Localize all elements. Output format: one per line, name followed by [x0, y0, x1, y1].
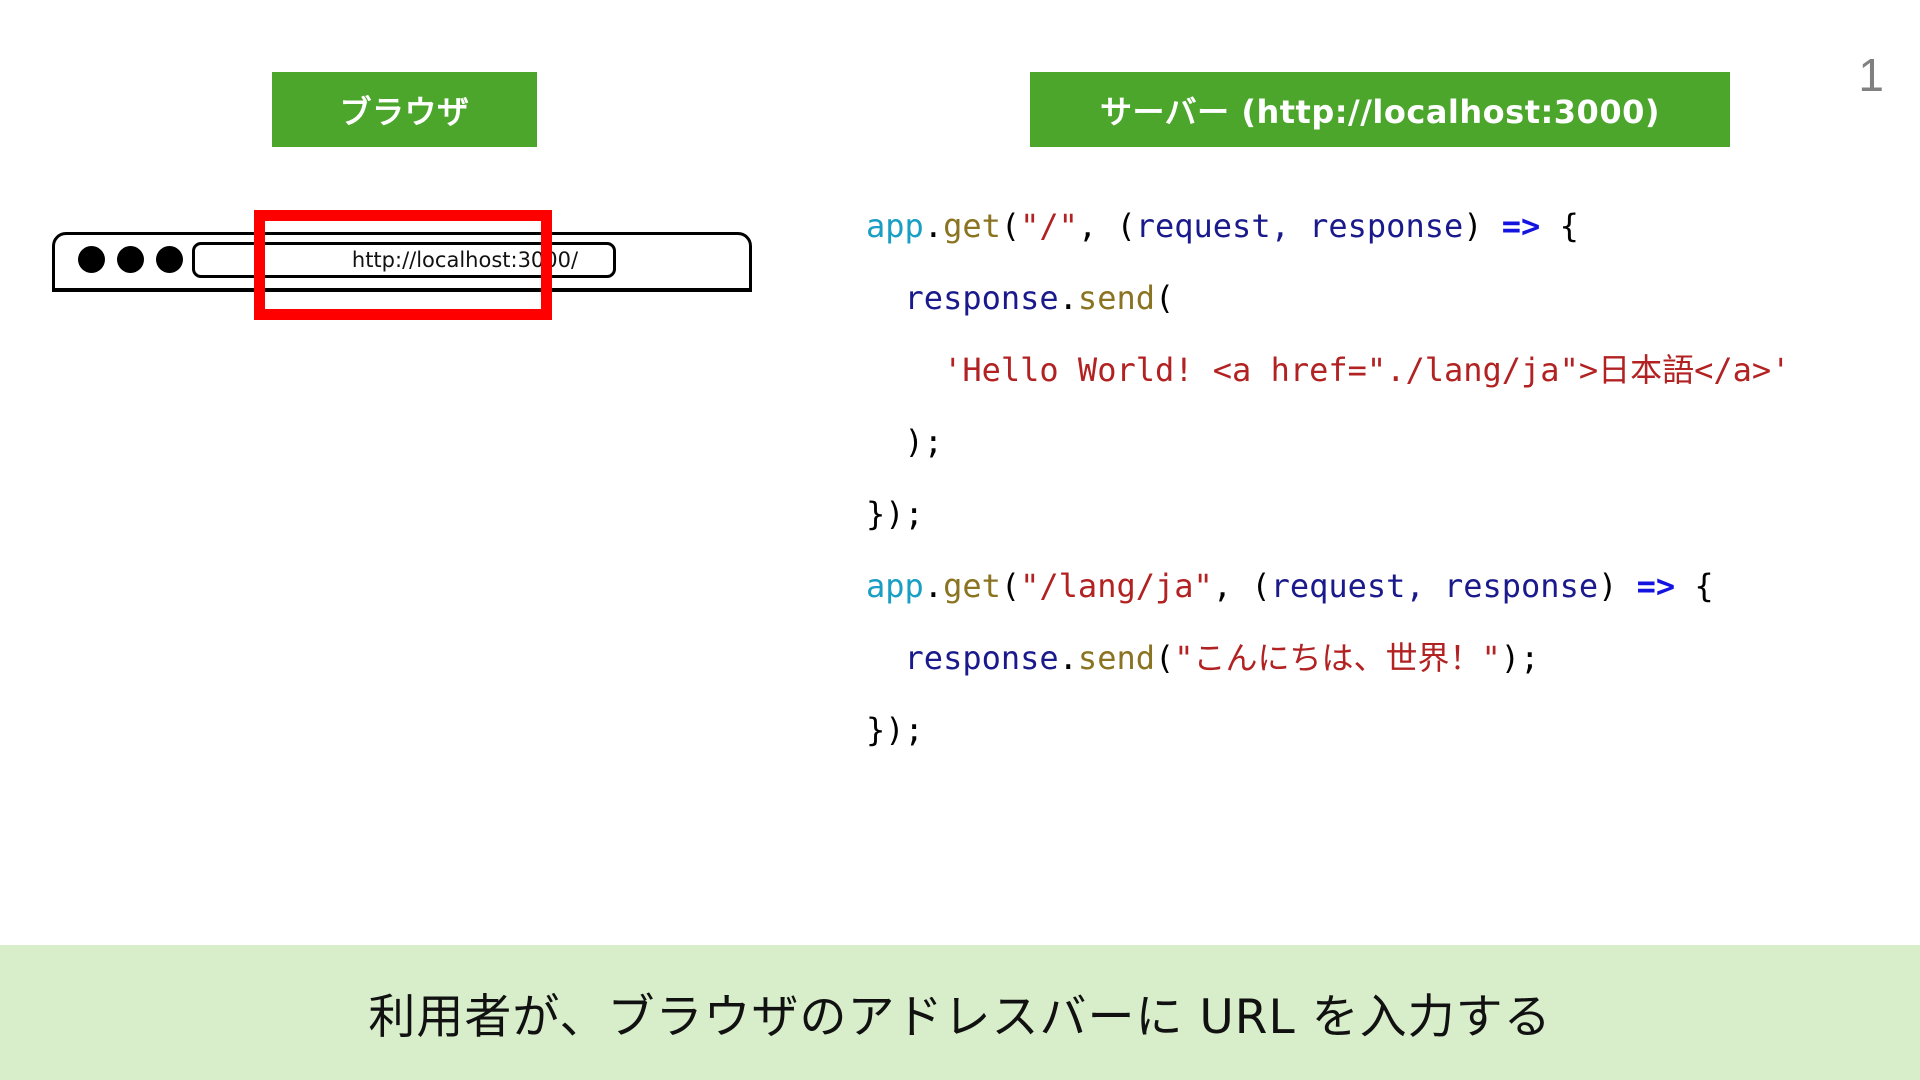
code-token: , (	[1213, 567, 1271, 605]
code-line: response.send("こんにちは、世界！");	[866, 622, 1886, 694]
address-bar[interactable]: http://localhost:3000/	[192, 242, 616, 278]
window-dot-icon[interactable]	[117, 246, 144, 273]
code-line: response.send(	[866, 262, 1886, 334]
code-token: )	[1463, 207, 1502, 245]
page-number: 1	[1858, 52, 1884, 98]
code-token: request, response	[1271, 567, 1599, 605]
code-token: response	[905, 279, 1059, 317]
code-token: );	[866, 423, 943, 461]
code-token: (	[1001, 207, 1020, 245]
code-token: app	[866, 207, 924, 245]
code-token: =>	[1502, 207, 1541, 245]
code-token: send	[1078, 279, 1155, 317]
code-token	[866, 351, 943, 389]
caption-banner: 利用者が、ブラウザのアドレスバーに URL を入力する	[0, 945, 1920, 1080]
code-token: .	[1059, 279, 1078, 317]
browser-column-header: ブラウザ	[272, 72, 537, 147]
code-token: (	[1155, 279, 1174, 317]
code-token: {	[1540, 207, 1579, 245]
code-line: app.get("/", (request, response) => {	[866, 190, 1886, 262]
code-token: });	[866, 495, 924, 533]
code-token: get	[943, 207, 1001, 245]
code-token: , (	[1078, 207, 1136, 245]
browser-traffic-lights	[78, 246, 183, 273]
code-token: );	[1501, 639, 1540, 677]
code-token: });	[866, 711, 924, 749]
code-token: {	[1675, 567, 1714, 605]
code-token: (	[1001, 567, 1020, 605]
caption-text: 利用者が、ブラウザのアドレスバーに URL を入力する	[368, 978, 1551, 1047]
code-token: 'Hello World! <a href="./lang/ja">日本語</a…	[943, 351, 1790, 389]
code-line: 'Hello World! <a href="./lang/ja">日本語</a…	[866, 334, 1886, 406]
server-column-header-label: サーバー (http://localhost:3000)	[1100, 87, 1660, 133]
code-token: response	[905, 639, 1059, 677]
browser-viewport	[52, 292, 752, 744]
code-line: );	[866, 406, 1886, 478]
code-line: });	[866, 478, 1886, 550]
code-token	[866, 639, 905, 677]
slide-root: 1 ブラウザ サーバー (http://localhost:3000) http…	[0, 0, 1920, 1080]
code-token: .	[1059, 639, 1078, 677]
code-token: "/lang/ja"	[1020, 567, 1213, 605]
browser-chrome-divider	[52, 288, 752, 292]
browser-column-header-label: ブラウザ	[339, 87, 469, 133]
code-token: "こんにちは、世界！"	[1174, 639, 1501, 677]
code-token: .	[924, 567, 943, 605]
code-line: app.get("/lang/ja", (request, response) …	[866, 550, 1886, 622]
code-token: app	[866, 567, 924, 605]
code-token: request, response	[1136, 207, 1464, 245]
code-token	[866, 279, 905, 317]
browser-mockup: http://localhost:3000/	[52, 232, 752, 744]
window-dot-icon[interactable]	[78, 246, 105, 273]
window-dot-icon[interactable]	[156, 246, 183, 273]
code-line: });	[866, 694, 1886, 766]
code-token: =>	[1637, 567, 1676, 605]
address-bar-value: http://localhost:3000/	[352, 248, 578, 272]
code-token: "/"	[1020, 207, 1078, 245]
code-token: .	[924, 207, 943, 245]
code-token: send	[1078, 639, 1155, 677]
server-column-header: サーバー (http://localhost:3000)	[1030, 72, 1730, 147]
code-token: (	[1155, 639, 1174, 677]
code-token: get	[943, 567, 1001, 605]
server-code-block: app.get("/", (request, response) => { re…	[866, 190, 1886, 766]
code-token: )	[1598, 567, 1637, 605]
